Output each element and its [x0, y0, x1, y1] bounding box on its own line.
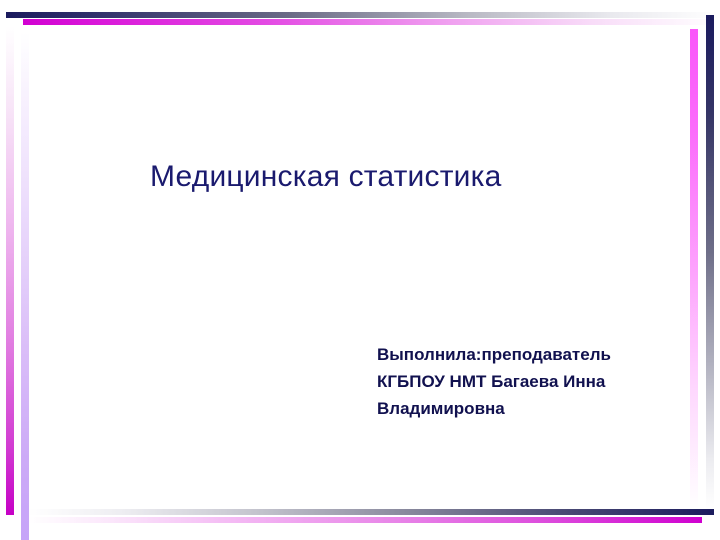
- bottom-magenta-bar: [28, 517, 702, 523]
- subtitle-line-3: Владимировна: [377, 395, 657, 422]
- top-magenta-bar: [23, 19, 718, 25]
- slide-subtitle: Выполнила:преподаватель КГБПОУ НМТ Багае…: [377, 341, 657, 422]
- left-magenta-bar: [6, 26, 14, 515]
- right-navy-bar: [706, 15, 714, 509]
- presentation-slide: Медицинская статистика Выполнила:препода…: [0, 0, 720, 540]
- subtitle-line-1: Выполнила:преподаватель: [377, 341, 657, 368]
- right-magenta-bar: [690, 29, 698, 509]
- subtitle-line-2: КГБПОУ НМТ Багаева Инна: [377, 368, 657, 395]
- slide-title: Медицинская статистика: [150, 158, 580, 196]
- bottom-navy-bar: [28, 509, 714, 515]
- left-violet-bar: [21, 32, 29, 540]
- top-navy-bar: [6, 12, 718, 18]
